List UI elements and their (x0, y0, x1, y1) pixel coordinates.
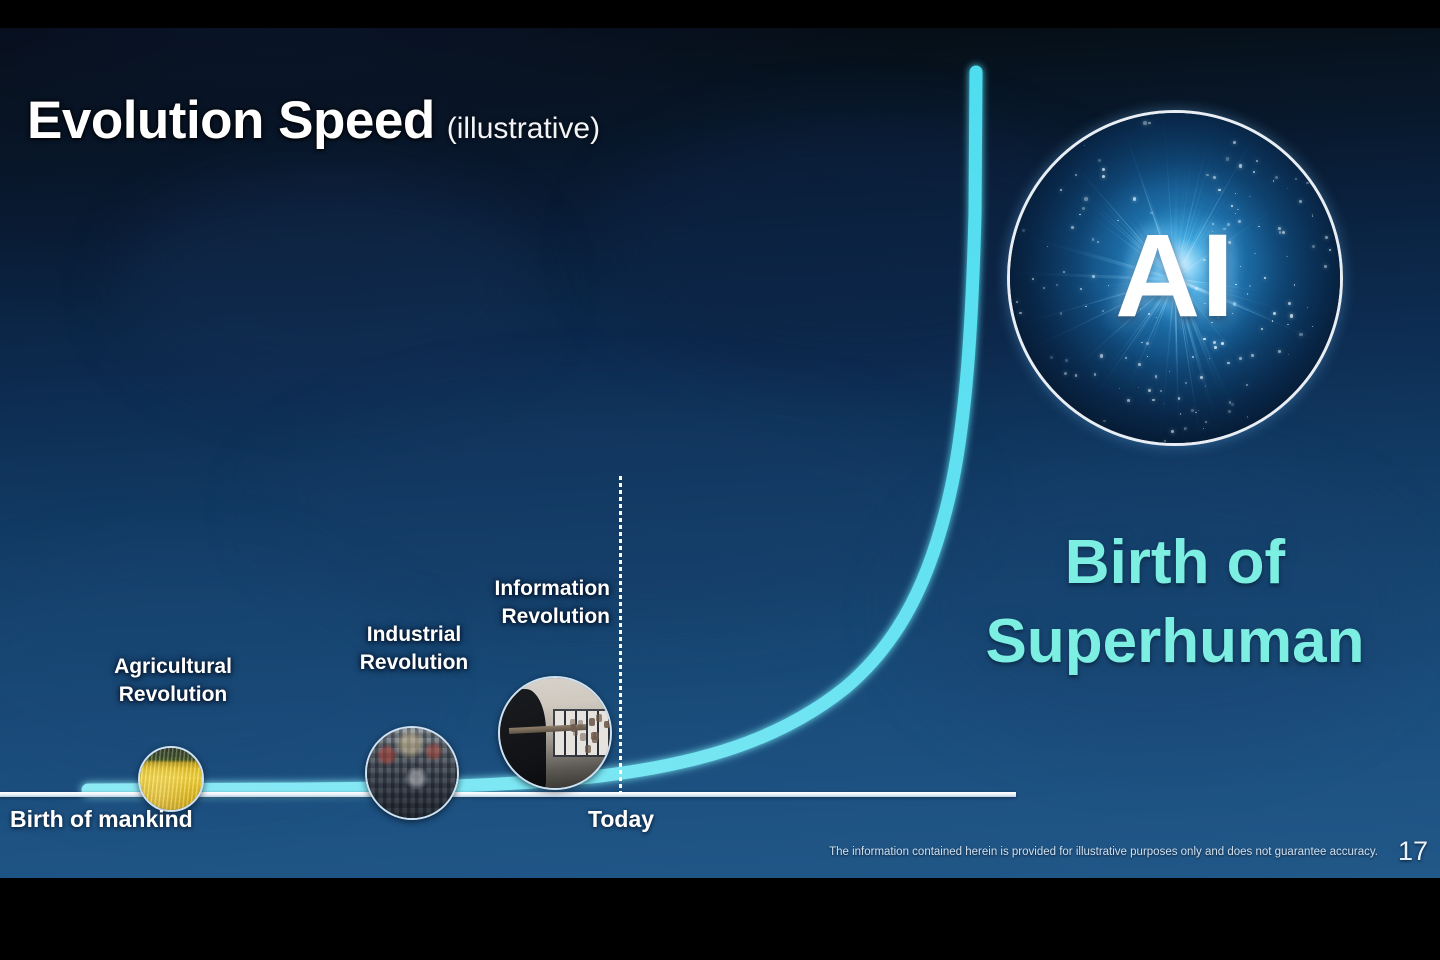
slide-frame: Evolution Speed(illustrative) AI Birth o… (0, 0, 1440, 960)
milestone-label-line-2: Revolution (344, 649, 484, 677)
video-call-face (578, 720, 584, 728)
axis-label-today: Today (588, 806, 654, 833)
headline-line-2: Superhuman (940, 603, 1410, 682)
milestone-photo-industrial (365, 726, 459, 820)
wheat-field-image (140, 748, 202, 810)
page-number: 17 (1398, 836, 1428, 867)
title-subtitle-text: (illustrative) (447, 112, 600, 145)
letterbox-bottom (0, 878, 1440, 960)
ai-label-text: AI (1010, 113, 1340, 443)
video-conference-desk-image (500, 678, 610, 788)
background-texture (120, 178, 540, 398)
milestone-label-line-1: Information (470, 575, 610, 603)
milestone-photo-information (498, 676, 612, 790)
milestone-label-industrial: Industrial Revolution (344, 621, 484, 676)
milestone-label-line-2: Revolution (103, 681, 243, 709)
factory-assembly-line-image (367, 728, 457, 818)
milestone-label-line-2: Revolution (470, 603, 610, 631)
background-texture (260, 388, 960, 628)
footer-disclaimer: The information contained herein is prov… (829, 846, 1378, 858)
superhuman-headline: Birth of Superhuman (940, 524, 1410, 681)
video-call-face (592, 736, 598, 744)
milestone-label-line-1: Industrial (344, 621, 484, 649)
video-call-face (596, 714, 602, 722)
video-call-face (580, 733, 586, 741)
today-reference-line (619, 476, 622, 794)
slide-canvas: Evolution Speed(illustrative) AI Birth o… (0, 28, 1440, 878)
milestone-photo-agricultural (138, 746, 204, 812)
ai-emblem: AI (1007, 110, 1343, 446)
milestone-label-agricultural: Agricultural Revolution (103, 653, 243, 708)
video-call-face (571, 724, 577, 732)
title-main-text: Evolution Speed (27, 91, 435, 150)
video-call-face (589, 718, 595, 726)
milestone-label-information: Information Revolution (470, 575, 610, 630)
axis-label-birth-of-mankind: Birth of mankind (10, 806, 193, 833)
milestone-label-line-1: Agricultural (103, 653, 243, 681)
video-call-face (585, 745, 591, 753)
letterbox-top (0, 0, 1440, 28)
headline-line-1: Birth of (940, 524, 1410, 603)
video-call-face (604, 721, 610, 729)
slide-title: Evolution Speed(illustrative) (27, 90, 600, 151)
